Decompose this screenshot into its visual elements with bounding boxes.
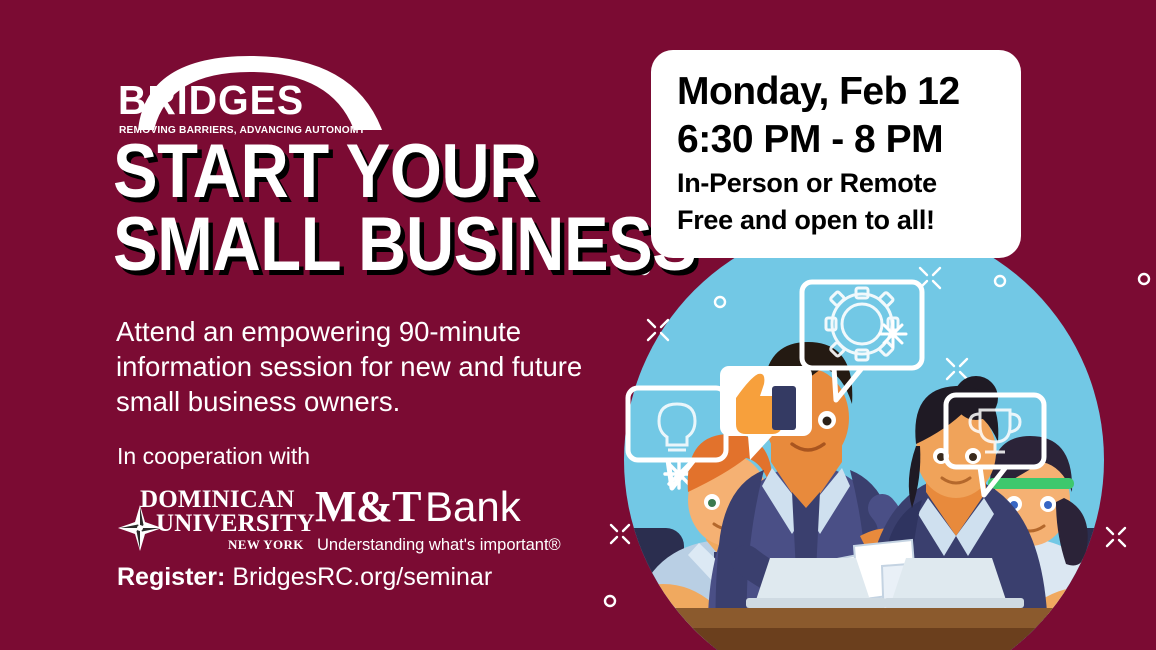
cooperation-label: In cooperation with (117, 443, 310, 470)
dominican-line-1: DOMINICAN (140, 487, 295, 512)
headline-line-2: SMALL BUSINESS (113, 209, 588, 282)
dominican-university-logo: DOMINICAN UNIVERSITY NEW YORK (118, 483, 308, 555)
body-description: Attend an empowering 90-minute informati… (116, 314, 626, 420)
mt-bank-tagline: Understanding what's important® (317, 536, 561, 555)
mt-bank-logo: M&T Bank Understanding what's important® (315, 485, 555, 555)
event-format: In-Person or Remote (677, 167, 995, 199)
register-url[interactable]: BridgesRC.org/seminar (232, 563, 492, 591)
mt-bank-word: Bank (425, 486, 521, 528)
dominican-line-3: NEW YORK (228, 538, 304, 551)
table-top (646, 608, 1106, 628)
register-label: Register: (117, 563, 225, 591)
event-cost: Free and open to all! (677, 204, 995, 236)
event-time: 6:30 PM - 8 PM (677, 116, 995, 164)
bridges-logo: BRIDGES REMOVING BARRIERS, ADVANCING AUT… (116, 52, 386, 134)
event-date: Monday, Feb 12 (677, 68, 995, 116)
table-front (646, 628, 1106, 650)
headline-line-1: START YOUR (113, 136, 588, 209)
bridges-wordmark: BRIDGES (118, 80, 304, 121)
dominican-line-2: UNIVERSITY (156, 511, 315, 536)
partner-logos: DOMINICAN UNIVERSITY NEW YORK M&T Bank U… (110, 483, 580, 555)
mt-mark: M&T (315, 485, 421, 529)
headband (988, 478, 1074, 489)
flyer-canvas: BRIDGES REMOVING BARRIERS, ADVANCING AUT… (0, 0, 1156, 650)
register-line: Register: BridgesRC.org/seminar (117, 563, 492, 592)
page-title: START YOUR SMALL BUSINESS (113, 136, 653, 282)
event-details-callout: Monday, Feb 12 6:30 PM - 8 PM In-Person … (651, 50, 1021, 258)
left-content-column: BRIDGES REMOVING BARRIERS, ADVANCING AUT… (0, 0, 640, 650)
